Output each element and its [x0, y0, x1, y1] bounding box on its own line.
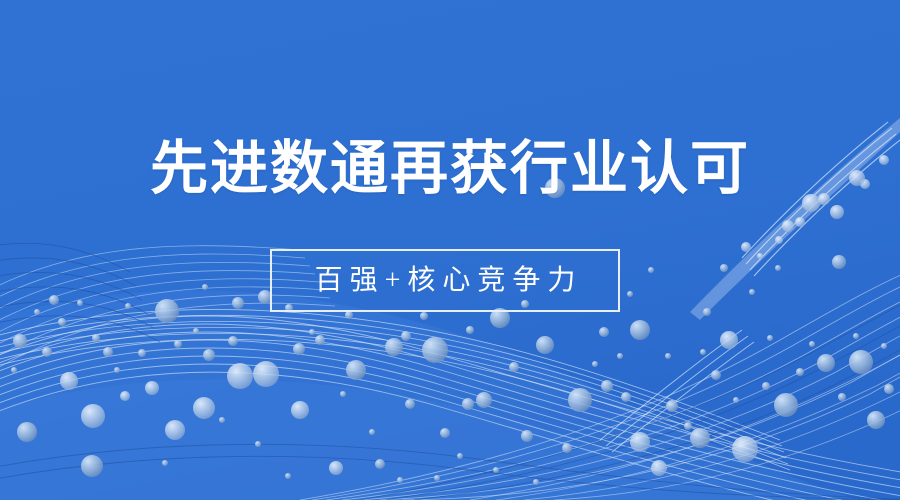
promo-banner: 先进数通再获行业认可 百强+核心竞争力	[0, 0, 900, 500]
banner-content: 先进数通再获行业认可 百强+核心竞争力	[0, 0, 900, 500]
page-title: 先进数通再获行业认可	[0, 140, 900, 198]
subtitle-badge: 百强+核心竞争力	[270, 249, 620, 312]
subtitle-text: 百强+核心竞争力	[308, 267, 583, 295]
